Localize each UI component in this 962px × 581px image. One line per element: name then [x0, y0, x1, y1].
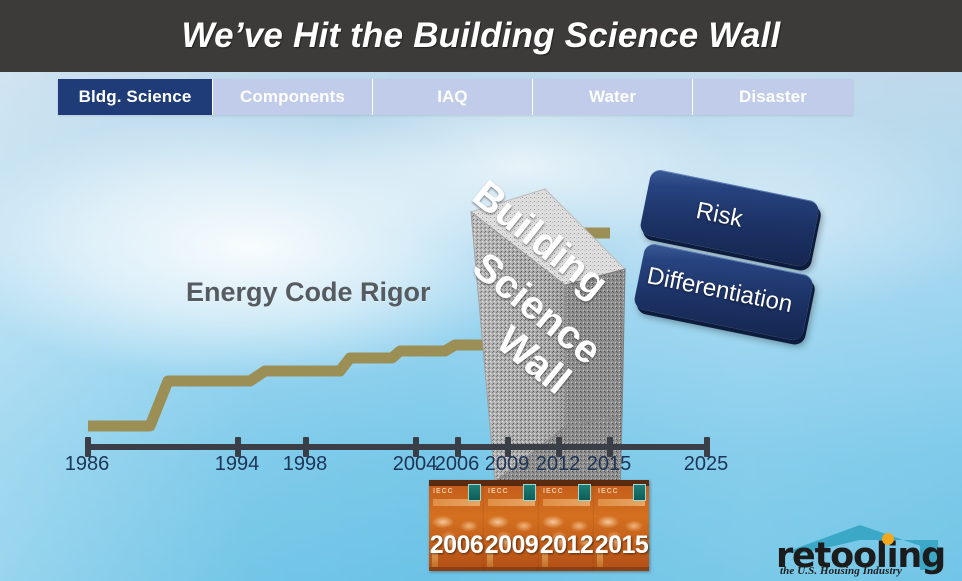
- code-book-year-2012: 2012: [539, 531, 594, 560]
- book-bottom-band: [539, 567, 594, 571]
- axis-year-1994: 1994: [211, 453, 263, 476]
- book-publisher-label: IECC: [543, 488, 564, 495]
- timeline-axis: [85, 444, 709, 450]
- slide-canvas: We’ve Hit the Building Science Wall Bldg…: [0, 0, 962, 581]
- axis-year-2009: 2009: [481, 453, 533, 476]
- book-seal-icon: [633, 484, 646, 501]
- banner-risk-label: Risk: [694, 197, 745, 234]
- book-bottom-band: [484, 567, 539, 571]
- axis-year-2015: 2015: [583, 453, 635, 476]
- axis-year-1986: 1986: [61, 453, 113, 476]
- code-book-year-2009: 2009: [484, 531, 539, 560]
- energy-code-rigor-label: Energy Code Rigor: [186, 277, 431, 308]
- book-publisher-label: IECC: [433, 488, 454, 495]
- book-bottom-band: [429, 567, 484, 571]
- book-seal-icon: [578, 484, 591, 501]
- book-bottom-band: [594, 567, 649, 571]
- book-publisher-label: IECC: [598, 488, 619, 495]
- wall-side-face: [565, 269, 625, 426]
- axis-year-2006: 2006: [431, 453, 483, 476]
- code-book-year-2015: 2015: [594, 531, 649, 560]
- logo-dot-icon: [881, 532, 901, 552]
- code-book-year-2006: 2006: [429, 531, 484, 560]
- book-seal-icon: [468, 484, 481, 501]
- book-publisher-label: IECC: [488, 488, 509, 495]
- logo-tagline: the U.S. Housing Industry: [780, 565, 902, 577]
- banner-differentiation-label: Differentiation: [644, 262, 794, 319]
- axis-year-2025: 2025: [680, 453, 732, 476]
- book-seal-icon: [523, 484, 536, 501]
- axis-year-2012: 2012: [532, 453, 584, 476]
- axis-year-1998: 1998: [279, 453, 331, 476]
- page-title: We’ve Hit the Building Science Wall: [0, 16, 962, 56]
- retooling-logo[interactable]: retooling the U.S. Housing Industry: [770, 524, 950, 576]
